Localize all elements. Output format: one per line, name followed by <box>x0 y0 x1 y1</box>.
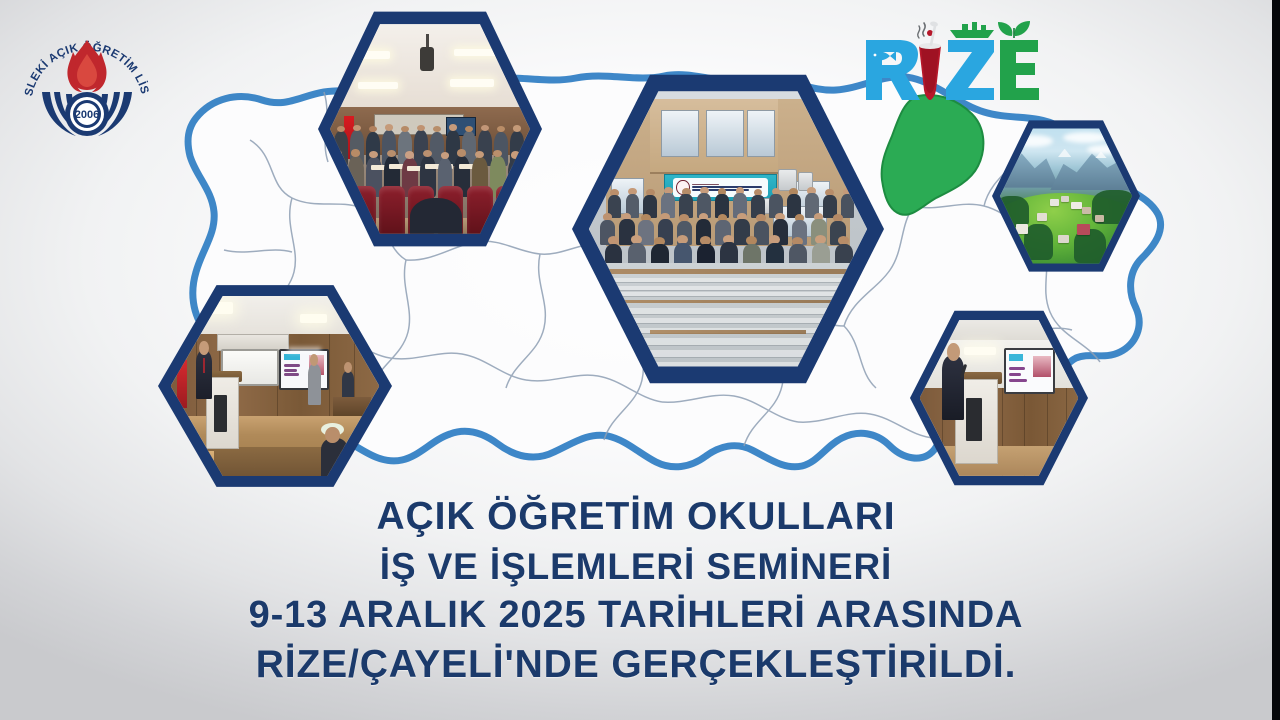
rize-letter-e <box>1000 40 1039 100</box>
speaker-figure <box>942 356 964 420</box>
photo-stage-presentation <box>158 282 392 490</box>
photo-conference-hall-group <box>318 8 542 250</box>
crowd-group <box>600 184 856 269</box>
presentation-screen <box>279 349 329 390</box>
mesleki-acik-ogretim-lisesi-logo: MESLEKİ AÇIK ÖĞRETİM LİSESİ <box>12 18 162 146</box>
photo-school-building-group <box>572 70 884 388</box>
presentation-screen <box>1004 348 1056 394</box>
turkish-flag <box>177 360 187 408</box>
photo-rize-highland <box>992 118 1140 274</box>
rize-letter-z <box>946 40 994 100</box>
photo-podium-speaker <box>910 308 1088 488</box>
tea-leaf-icon <box>998 21 1030 38</box>
scene-stage-presentation <box>171 293 380 479</box>
scene-school-building <box>589 87 867 371</box>
rize-province-highlight <box>882 95 984 215</box>
scene-podium-speaker <box>920 318 1079 479</box>
headline-line-3: 9-13 ARALIK 2025 TARİHLERİ ARASINDA <box>0 591 1272 640</box>
rize-letter-r <box>866 40 920 100</box>
tea-glass-icon <box>918 21 941 100</box>
scene-highland <box>1000 126 1132 265</box>
boat-icon <box>950 22 994 38</box>
plaza-floor <box>589 263 867 371</box>
logo-year: 2006 <box>75 109 99 121</box>
headline-line-2: İŞ VE İŞLEMLERİ SEMİNERİ <box>0 543 1272 591</box>
poster-canvas: MESLEKİ AÇIK ÖĞRETİM LİSESİ <box>0 0 1280 720</box>
headline-line-4: RİZE/ÇAYELİ'NDE GERÇEKLEŞTİRİLDİ. <box>0 640 1272 691</box>
headline-line-1: AÇIK ÖĞRETİM OKULLARI <box>0 492 1272 543</box>
poster-headline: AÇIK ÖĞRETİM OKULLARI İŞ VE İŞLEMLERİ SE… <box>0 492 1272 691</box>
scene-conference-hall <box>330 21 530 237</box>
rize-city-logo <box>862 18 1042 110</box>
